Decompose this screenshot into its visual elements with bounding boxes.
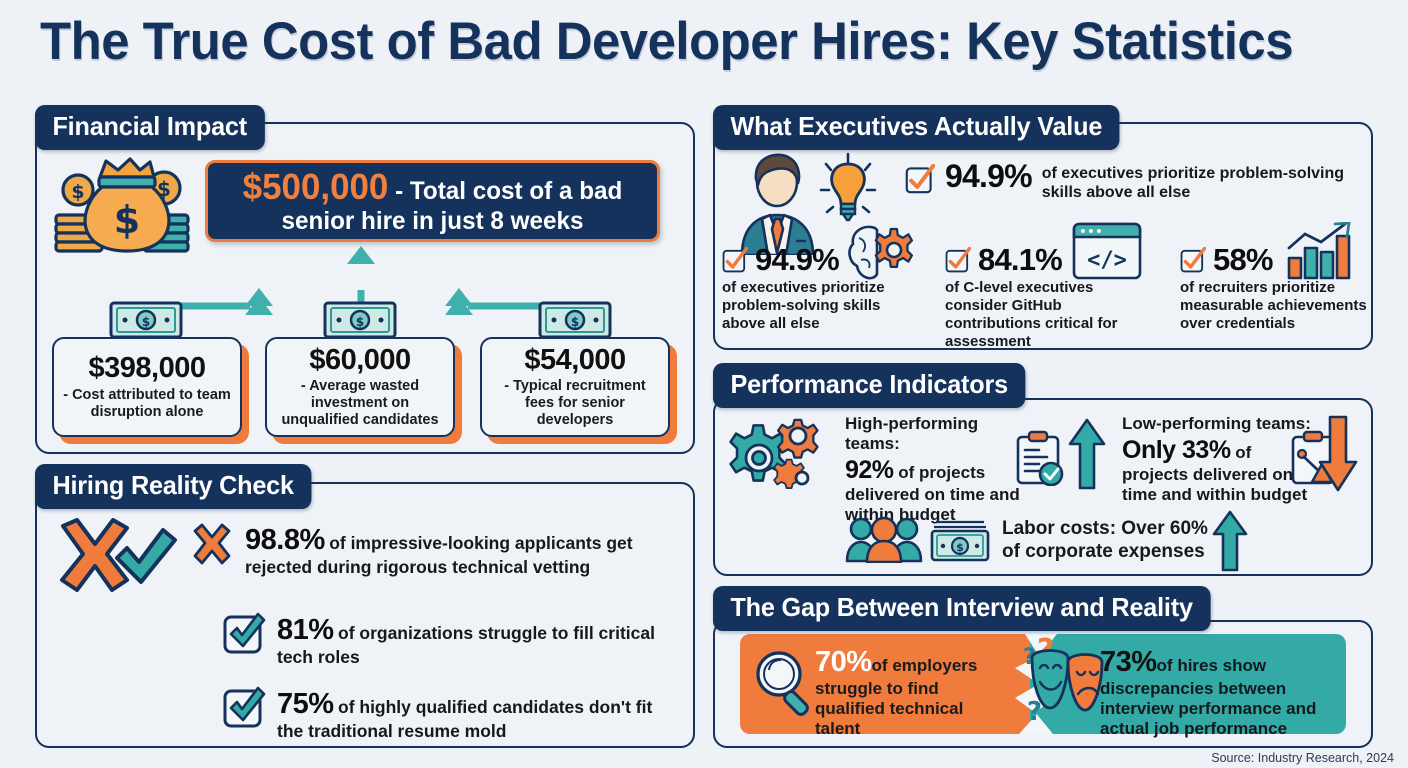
clipboard-check-icon bbox=[1013, 430, 1065, 486]
gap-right-percent: 73% bbox=[1100, 646, 1157, 678]
gap-left-inline: of employers bbox=[872, 656, 978, 675]
svg-text:$: $ bbox=[571, 315, 579, 329]
cost-card: $54,000 - Typical recruitment fees for s… bbox=[480, 337, 670, 437]
hiring-percent: 81% bbox=[277, 614, 334, 646]
people-group-icon bbox=[845, 515, 923, 563]
panel-heading-financial-impact: Financial Impact bbox=[35, 105, 264, 150]
cost-description: - Typical recruitment fees for senior de… bbox=[488, 378, 662, 429]
performance-block: High-performing teams: 92% of projects d… bbox=[845, 414, 1025, 526]
checkbox-check-icon bbox=[222, 686, 266, 730]
executives-featured-description: of executives prioritize problem-solving… bbox=[1042, 160, 1365, 202]
page-title: The True Cost of Bad Developer Hires: Ke… bbox=[40, 14, 1326, 70]
hiring-percent: 75% bbox=[277, 688, 334, 720]
cross-small-icon bbox=[190, 522, 234, 566]
gears-icon bbox=[728, 410, 833, 500]
theater-masks-icon bbox=[1028, 648, 1106, 718]
gap-left-description: struggle to find qualified technical tal… bbox=[815, 679, 995, 739]
cost-card: $398,000 - Cost attributed to team disru… bbox=[52, 337, 242, 437]
gap-right-inline: of hires show bbox=[1157, 656, 1267, 675]
panel-heading-hiring-reality-check: Hiring Reality Check bbox=[35, 464, 311, 509]
executives-column: 84.1% of C-level executives consider Git… bbox=[945, 244, 1160, 351]
executive-avatar-icon bbox=[730, 145, 825, 255]
hiring-percent: 98.8% bbox=[245, 524, 325, 556]
checkbox-check-icon bbox=[222, 612, 266, 656]
svg-text:$: $ bbox=[142, 315, 150, 329]
arrow-up-teal-icon bbox=[1068, 418, 1106, 490]
panel-heading-gap-interview-reality: The Gap Between Interview and Reality bbox=[713, 586, 1210, 631]
cost-description: - Average wasted investment on unqualifi… bbox=[273, 378, 447, 429]
dollar-bill-icon: $ bbox=[930, 520, 990, 562]
executives-featured-percent: 94.9% bbox=[945, 160, 1032, 192]
hiring-row: 75% of highly qualified candidates don't… bbox=[222, 686, 662, 742]
performance-stat-value: Only 33% bbox=[1122, 436, 1231, 464]
arrow-down-orange-icon bbox=[1318, 414, 1358, 492]
executives-percent: 94.9% bbox=[755, 244, 839, 275]
infographic-root: The True Cost of Bad Developer Hires: Ke… bbox=[0, 0, 1408, 768]
executives-featured-stat: 94.9% of executives prioritize problem-s… bbox=[905, 160, 1365, 202]
gap-left-text: 70%of employers struggle to find qualifi… bbox=[815, 646, 995, 739]
checkbox-orange-icon bbox=[945, 247, 971, 273]
arrow-up-teal-icon bbox=[1212, 510, 1248, 572]
hiring-row: 98.8% of impressive-looking applicants g… bbox=[190, 522, 660, 578]
labor-costs-text: Labor costs: Over 60% of corporate expen… bbox=[1002, 518, 1217, 564]
executives-description: of C-level executives consider GitHub co… bbox=[945, 279, 1160, 351]
executives-percent: 58% bbox=[1213, 244, 1273, 275]
cross-check-icon-group bbox=[55, 518, 185, 593]
magnifier-icon bbox=[752, 648, 816, 718]
executives-column: 94.9% of executives prioritize problem-s… bbox=[722, 244, 922, 333]
cost-card: $60,000 - Average wasted investment on u… bbox=[265, 337, 455, 437]
checkbox-orange-icon bbox=[905, 164, 935, 194]
cost-amount: $54,000 bbox=[524, 345, 625, 375]
cost-amount: $398,000 bbox=[89, 353, 206, 383]
svg-text:$: $ bbox=[71, 181, 84, 203]
executives-description: of recruiters prioritize measurable achi… bbox=[1180, 279, 1375, 333]
svg-text:$: $ bbox=[956, 541, 964, 554]
executives-description: of executives prioritize problem-solving… bbox=[722, 279, 922, 333]
svg-text:$: $ bbox=[157, 177, 171, 201]
executives-column: 58% of recruiters prioritize measurable … bbox=[1180, 244, 1375, 333]
gap-right-description: discrepancies between interview performa… bbox=[1100, 679, 1350, 739]
hiring-row: 81% of organizations struggle to fill cr… bbox=[222, 612, 662, 668]
hero-cost-box: $500,000 - Total cost of a bad senior hi… bbox=[205, 160, 660, 242]
performance-label: High-performing teams: bbox=[845, 414, 1025, 454]
panel-heading-what-executives-value: What Executives Actually Value bbox=[713, 105, 1120, 150]
lightbulb-icon bbox=[818, 152, 878, 224]
gap-left-percent: 70% bbox=[815, 646, 872, 678]
gap-right-text: 73%of hires show discrepancies between i… bbox=[1100, 646, 1350, 739]
cost-description: - Cost attributed to team disruption alo… bbox=[60, 387, 234, 421]
cost-amount: $60,000 bbox=[309, 345, 410, 375]
checkbox-orange-icon bbox=[1180, 247, 1206, 273]
performance-stat-value: 92% bbox=[845, 456, 894, 484]
executives-percent: 84.1% bbox=[978, 244, 1062, 275]
source-attribution: Source: Industry Research, 2024 bbox=[1211, 751, 1394, 765]
svg-text:$: $ bbox=[356, 315, 364, 329]
checkbox-orange-icon bbox=[722, 247, 748, 273]
svg-text:$: $ bbox=[114, 198, 140, 242]
hero-amount: $500,000 bbox=[243, 166, 389, 207]
panel-heading-performance-indicators: Performance Indicators bbox=[713, 363, 1025, 408]
